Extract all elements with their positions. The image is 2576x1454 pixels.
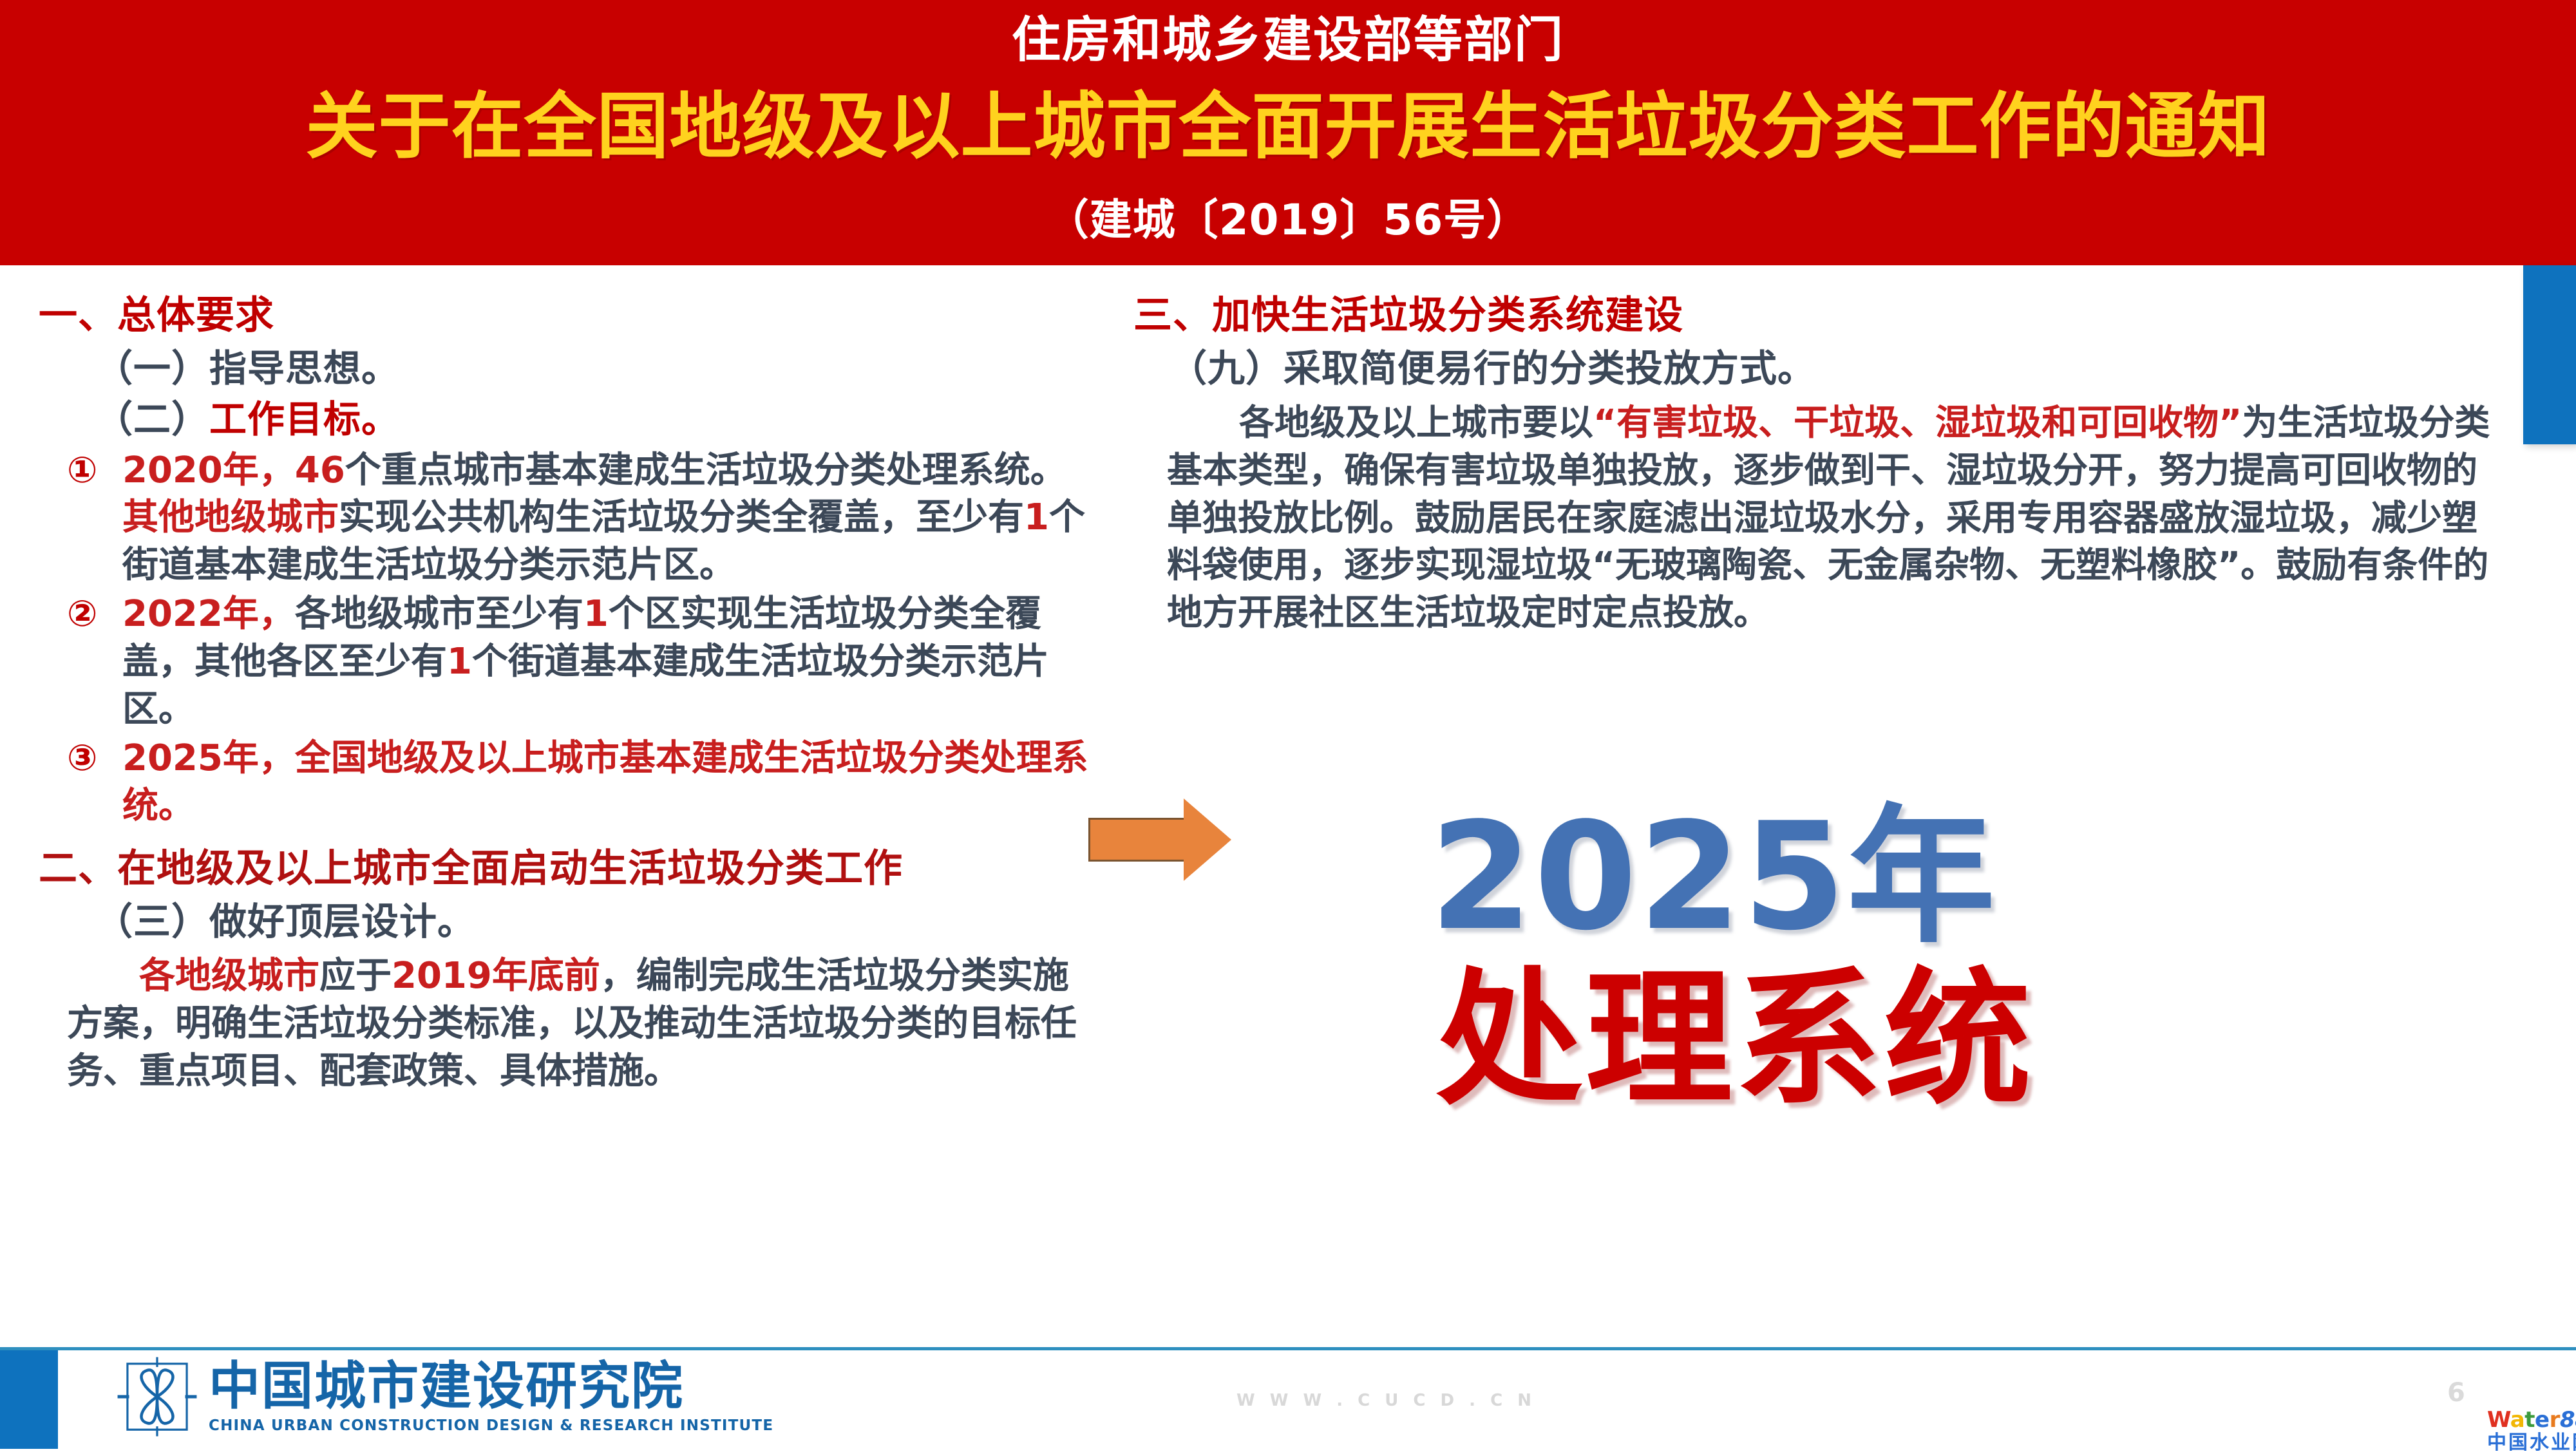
list-item: ① 2020年，46个重点城市基本建成生活垃圾分类处理系统。其他地级城市实现公共… — [67, 447, 1095, 590]
institute-logo: 中国城市建设研究院 CHINA URBAN CONSTRUCTION DESIG… — [116, 1355, 773, 1438]
callout-system: 处理系统 — [1436, 966, 2034, 1113]
subsection-1-label: （一）指导思想。 — [95, 346, 399, 390]
list-item-marker: ① — [67, 447, 122, 495]
list-item-text: 2020年，46个重点城市基本建成生活垃圾分类处理系统。其他地级城市实现公共机构… — [122, 447, 1095, 590]
item-1-seg-3: 其他地级城市 — [122, 496, 339, 538]
left-column: 一、总体要求 （一）指导思想。 （二）工作目标。 ① 2020年，46个重点城市… — [39, 291, 1095, 1095]
item-2-seg-3: 1 — [583, 593, 609, 635]
footer-accent-bar — [0, 1350, 58, 1449]
para-3-seg-3: 2019年底前 — [392, 955, 600, 997]
subsection-2-highlight: 工作目标。 — [209, 397, 399, 441]
item-3-seg-1: 2025年， — [122, 737, 295, 779]
watermark-brand: Water8848.com — [2487, 1409, 2575, 1431]
footer-website-url: W W W . C U C D . C N — [1236, 1391, 1536, 1410]
watermark-letter-r: r — [2550, 1407, 2560, 1433]
callout-year: 2025年 — [1430, 804, 1996, 952]
logo-english-name: CHINA URBAN CONSTRUCTION DESIGN & RESEAR… — [209, 1419, 773, 1433]
subsection-9-label: （九）采取简便易行的分类投放方式。 — [1170, 346, 1815, 390]
para-3-seg-1: 各地级城市 — [139, 955, 319, 997]
document-number: （建城〔2019〕56号） — [0, 185, 2576, 247]
item-1-seg-4: 实现公共机构生活垃圾分类全覆盖，至少有 — [339, 496, 1024, 538]
list-item-text: 2025年，全国地级及以上城市基本建成生活垃圾分类处理系统。 — [122, 735, 1095, 830]
item-2-seg-5: 1 — [447, 641, 472, 683]
para-9-seg-1: 各地级及以上城市要以 — [1239, 402, 1593, 443]
right-column: 三、加快生活垃圾分类系统建设 （九）采取简便易行的分类投放方式。 各地级及以上城… — [1133, 291, 2505, 637]
slide-content: 一、总体要求 （一）指导思想。 （二）工作目标。 ① 2020年，46个重点城市… — [0, 265, 2576, 1347]
subsection-2-prefix: （二） — [95, 397, 209, 441]
list-item-text: 2022年，各地级城市至少有1个区实现生活垃圾分类全覆盖，其他各区至少有1个街道… — [122, 590, 1095, 733]
watermark: Water8848.com 中国水业网 — [2487, 1409, 2575, 1453]
arrow-shaft — [1088, 818, 1185, 862]
subsection-3: （三）做好顶层设计。 — [95, 898, 1095, 946]
item-1-seg-2: 个重点城市基本建成生活垃圾分类处理系统。 — [345, 449, 1066, 491]
orange-arrow-icon — [1088, 798, 1230, 882]
section-heading-3: 三、加快生活垃圾分类系统建设 — [1133, 291, 2505, 341]
header-organization: 住房和城乡建设部等部门 — [0, 12, 2576, 68]
list-item-marker: ③ — [67, 735, 122, 782]
paragraph-3: 各地级城市应于2019年底前，编制完成生活垃圾分类实施方案，明确生活垃圾分类标准… — [67, 952, 1095, 1095]
item-2-seg-1: 2022年， — [122, 593, 295, 635]
item-1-seg-1: 2020年，46 — [122, 449, 345, 491]
header-red-band: 住房和城乡建设部等部门 关于在全国地级及以上城市全面开展生活垃圾分类工作的通知 … — [0, 0, 2576, 265]
list-item: ③ 2025年，全国地级及以上城市基本建成生活垃圾分类处理系统。 — [67, 735, 1095, 830]
watermark-letter-t: t — [2524, 1407, 2535, 1433]
watermark-letter-e: e — [2535, 1407, 2550, 1433]
page-title: 关于在全国地级及以上城市全面开展生活垃圾分类工作的通知 — [0, 84, 2576, 170]
watermark-number: 8848 — [2560, 1407, 2576, 1433]
institute-emblem-icon — [116, 1355, 198, 1438]
subsection-2: （二）工作目标。 — [95, 395, 1095, 444]
para-9-seg-2: “有害垃圾、干垃圾、湿垃圾和可回收物” — [1593, 402, 2242, 443]
section-heading-2: 二、在地级及以上城市全面启动生活垃圾分类工作 — [39, 844, 1095, 894]
logo-chinese-name: 中国城市建设研究院 — [209, 1361, 773, 1412]
subsection-3-label: （三）做好顶层设计。 — [95, 900, 475, 943]
watermark-chinese: 中国水业网 — [2487, 1433, 2575, 1453]
footer-divider — [0, 1347, 2576, 1350]
para-3-seg-2: 应于 — [319, 955, 392, 997]
subsection-9: （九）采取简便易行的分类投放方式。 — [1170, 345, 2505, 393]
item-1-seg-5: 1 — [1024, 496, 1049, 538]
watermark-letter-a: a — [2510, 1407, 2524, 1433]
subsection-1: （一）指导思想。 — [95, 345, 1095, 393]
paragraph-9: 各地级及以上城市要以“有害垃圾、干垃圾、湿垃圾和可回收物”为生活垃圾分类基本类型… — [1167, 399, 2505, 636]
list-item: ② 2022年，各地级城市至少有1个区实现生活垃圾分类全覆盖，其他各区至少有1个… — [67, 590, 1095, 733]
list-item-marker: ② — [67, 590, 122, 638]
arrow-head — [1184, 798, 1231, 881]
page-number: 6 — [2447, 1378, 2465, 1408]
watermark-letter-w: W — [2487, 1407, 2510, 1433]
section-heading-1: 一、总体要求 — [39, 291, 1095, 341]
logo-text-block: 中国城市建设研究院 CHINA URBAN CONSTRUCTION DESIG… — [209, 1361, 773, 1433]
item-2-seg-2: 各地级城市至少有 — [295, 593, 583, 635]
